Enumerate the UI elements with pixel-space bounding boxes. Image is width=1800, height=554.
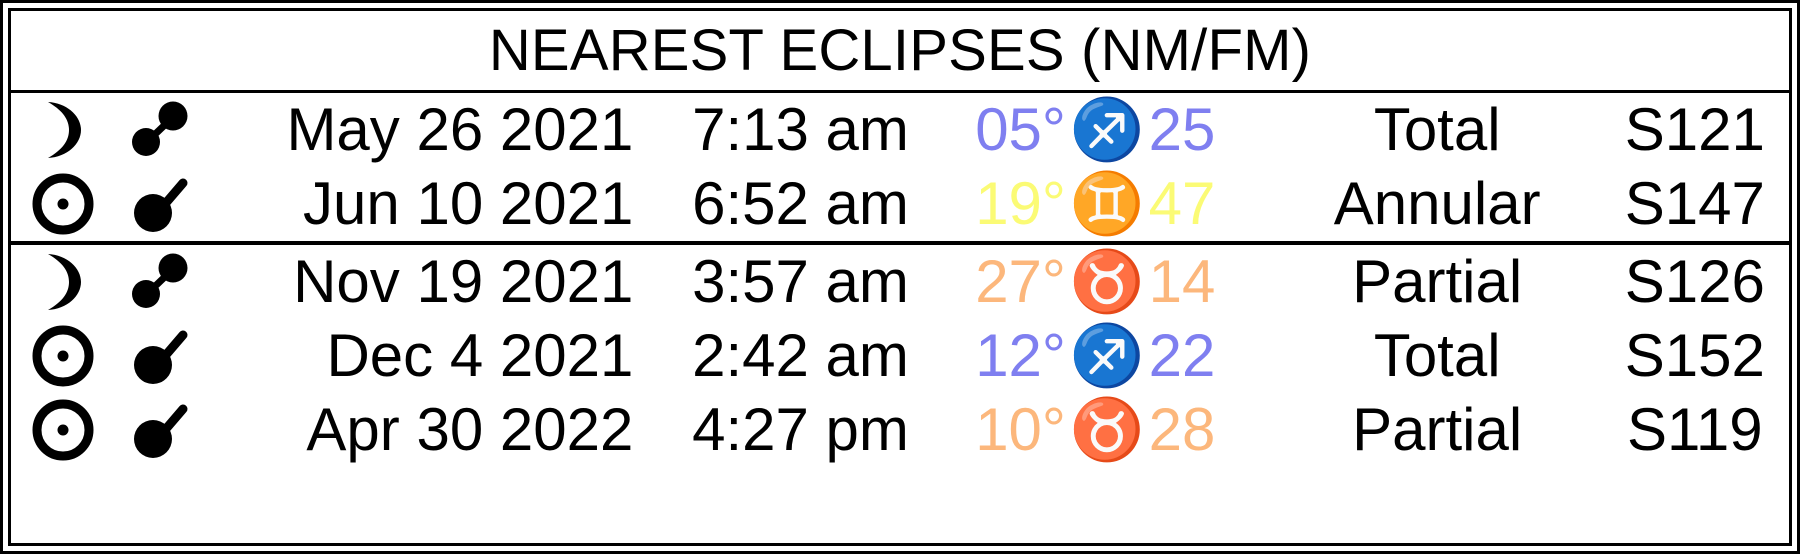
saros-series-cell: S152	[1601, 326, 1789, 386]
zodiac-position-cell: 05°♐25	[917, 100, 1274, 160]
eclipse-date-cell: May 26 2021	[203, 100, 639, 160]
zodiac-position-cell: 27°♉14	[917, 252, 1274, 312]
solar-eclipse-lollipop-icon	[126, 399, 192, 461]
zodiac-position: 05°♐25	[975, 100, 1215, 160]
zodiac-minute: 47	[1149, 174, 1216, 234]
eclipse-date: Dec 4 2021	[326, 326, 633, 386]
lunar-eclipse-dumbbell-icon	[126, 251, 192, 313]
saros-series: S121	[1625, 100, 1765, 160]
zodiac-position: 10°♉28	[975, 400, 1215, 460]
celestial-body-cell	[11, 325, 114, 387]
eclipse-type: Annular	[1334, 174, 1541, 234]
zodiac-degree: 27°	[975, 252, 1066, 312]
eclipse-time-cell: 2:42 am	[639, 326, 917, 386]
eclipse-type-cell: Partial	[1274, 400, 1601, 460]
eclipse-time: 2:42 am	[692, 326, 909, 386]
nearest-eclipses-panel-inner: NEAREST ECLIPSES (NM/FM) May 26 20217:13…	[8, 8, 1792, 546]
sun-circle-dot-icon	[32, 173, 94, 235]
eclipse-date: Jun 10 2021	[303, 174, 633, 234]
zodiac-position-cell: 19°♊47	[917, 174, 1274, 234]
saros-series-cell: S121	[1601, 100, 1789, 160]
table-row[interactable]: Jun 10 20216:52 am19°♊47AnnularS147	[11, 167, 1789, 241]
zodiac-minute: 22	[1149, 326, 1216, 386]
eclipse-date: May 26 2021	[286, 100, 633, 160]
eclipse-type: Partial	[1352, 252, 1522, 312]
eclipse-time-cell: 6:52 am	[639, 174, 917, 234]
saros-series: S119	[1627, 400, 1763, 460]
zodiac-minute: 25	[1149, 100, 1216, 160]
eclipse-date-cell: Dec 4 2021	[203, 326, 639, 386]
eclipse-date: Nov 19 2021	[293, 252, 633, 312]
eclipse-time-cell: 4:27 pm	[639, 400, 917, 460]
eclipse-date-cell: Nov 19 2021	[203, 252, 639, 312]
sun-circle-dot-icon	[32, 325, 94, 387]
zodiac-position: 27°♉14	[975, 252, 1215, 312]
lunar-eclipse-dumbbell-icon	[126, 99, 192, 161]
eclipse-glyph-cell	[114, 99, 203, 161]
zodiac-sign-icon: ♊	[1066, 174, 1149, 234]
celestial-body-cell	[11, 98, 114, 162]
zodiac-degree: 12°	[975, 326, 1066, 386]
eclipse-glyph-cell	[114, 251, 203, 313]
eclipse-row-group: May 26 20217:13 am05°♐25TotalS121Jun 10 …	[11, 93, 1789, 241]
zodiac-degree: 05°	[975, 100, 1066, 160]
moon-crescent-icon	[34, 98, 92, 162]
zodiac-minute: 14	[1149, 252, 1216, 312]
zodiac-minute: 28	[1149, 400, 1216, 460]
zodiac-position: 12°♐22	[975, 326, 1215, 386]
zodiac-degree: 10°	[975, 400, 1066, 460]
eclipse-date-cell: Jun 10 2021	[203, 174, 639, 234]
zodiac-degree: 19°	[975, 174, 1066, 234]
saros-series: S126	[1625, 252, 1765, 312]
solar-eclipse-lollipop-icon	[126, 325, 192, 387]
zodiac-position: 19°♊47	[975, 174, 1215, 234]
saros-series-cell: S126	[1601, 252, 1789, 312]
eclipse-date: Apr 30 2022	[306, 400, 633, 460]
zodiac-sign-icon: ♉	[1066, 252, 1149, 312]
eclipse-type: Total	[1374, 100, 1501, 160]
saros-series: S147	[1625, 174, 1765, 234]
eclipse-time: 6:52 am	[692, 174, 909, 234]
saros-series-cell: S147	[1601, 174, 1789, 234]
eclipse-time-cell: 3:57 am	[639, 252, 917, 312]
eclipse-table-body: May 26 20217:13 am05°♐25TotalS121Jun 10 …	[11, 93, 1789, 543]
eclipse-type: Partial	[1352, 400, 1522, 460]
eclipse-time-cell: 7:13 am	[639, 100, 917, 160]
celestial-body-cell	[11, 399, 114, 461]
eclipse-time: 7:13 am	[692, 100, 909, 160]
eclipse-glyph-cell	[114, 399, 203, 461]
saros-series-cell: S119	[1601, 400, 1789, 460]
zodiac-position-cell: 12°♐22	[917, 326, 1274, 386]
eclipse-time: 3:57 am	[692, 252, 909, 312]
saros-series: S152	[1625, 326, 1765, 386]
table-row[interactable]: May 26 20217:13 am05°♐25TotalS121	[11, 93, 1789, 167]
sun-circle-dot-icon	[32, 399, 94, 461]
eclipse-date-cell: Apr 30 2022	[203, 400, 639, 460]
eclipse-glyph-cell	[114, 325, 203, 387]
moon-crescent-icon	[34, 250, 92, 314]
eclipse-row-group: Nov 19 20213:57 am27°♉14PartialS126Dec 4…	[11, 241, 1789, 467]
eclipse-type-cell: Partial	[1274, 252, 1601, 312]
eclipse-type-cell: Total	[1274, 326, 1601, 386]
table-row[interactable]: Apr 30 20224:27 pm10°♉28PartialS119	[11, 393, 1789, 467]
table-row[interactable]: Dec 4 20212:42 am12°♐22TotalS152	[11, 319, 1789, 393]
zodiac-sign-icon: ♐	[1066, 100, 1149, 160]
zodiac-position-cell: 10°♉28	[917, 400, 1274, 460]
page-title: NEAREST ECLIPSES (NM/FM)	[11, 11, 1789, 93]
zodiac-sign-icon: ♉	[1066, 400, 1149, 460]
eclipse-type-cell: Annular	[1274, 174, 1601, 234]
eclipse-type: Total	[1374, 326, 1501, 386]
eclipse-time: 4:27 pm	[692, 400, 909, 460]
celestial-body-cell	[11, 250, 114, 314]
table-row[interactable]: Nov 19 20213:57 am27°♉14PartialS126	[11, 245, 1789, 319]
eclipse-type-cell: Total	[1274, 100, 1601, 160]
nearest-eclipses-panel: NEAREST ECLIPSES (NM/FM) May 26 20217:13…	[0, 0, 1800, 554]
eclipse-glyph-cell	[114, 173, 203, 235]
solar-eclipse-lollipop-icon	[126, 173, 192, 235]
celestial-body-cell	[11, 173, 114, 235]
zodiac-sign-icon: ♐	[1066, 326, 1149, 386]
